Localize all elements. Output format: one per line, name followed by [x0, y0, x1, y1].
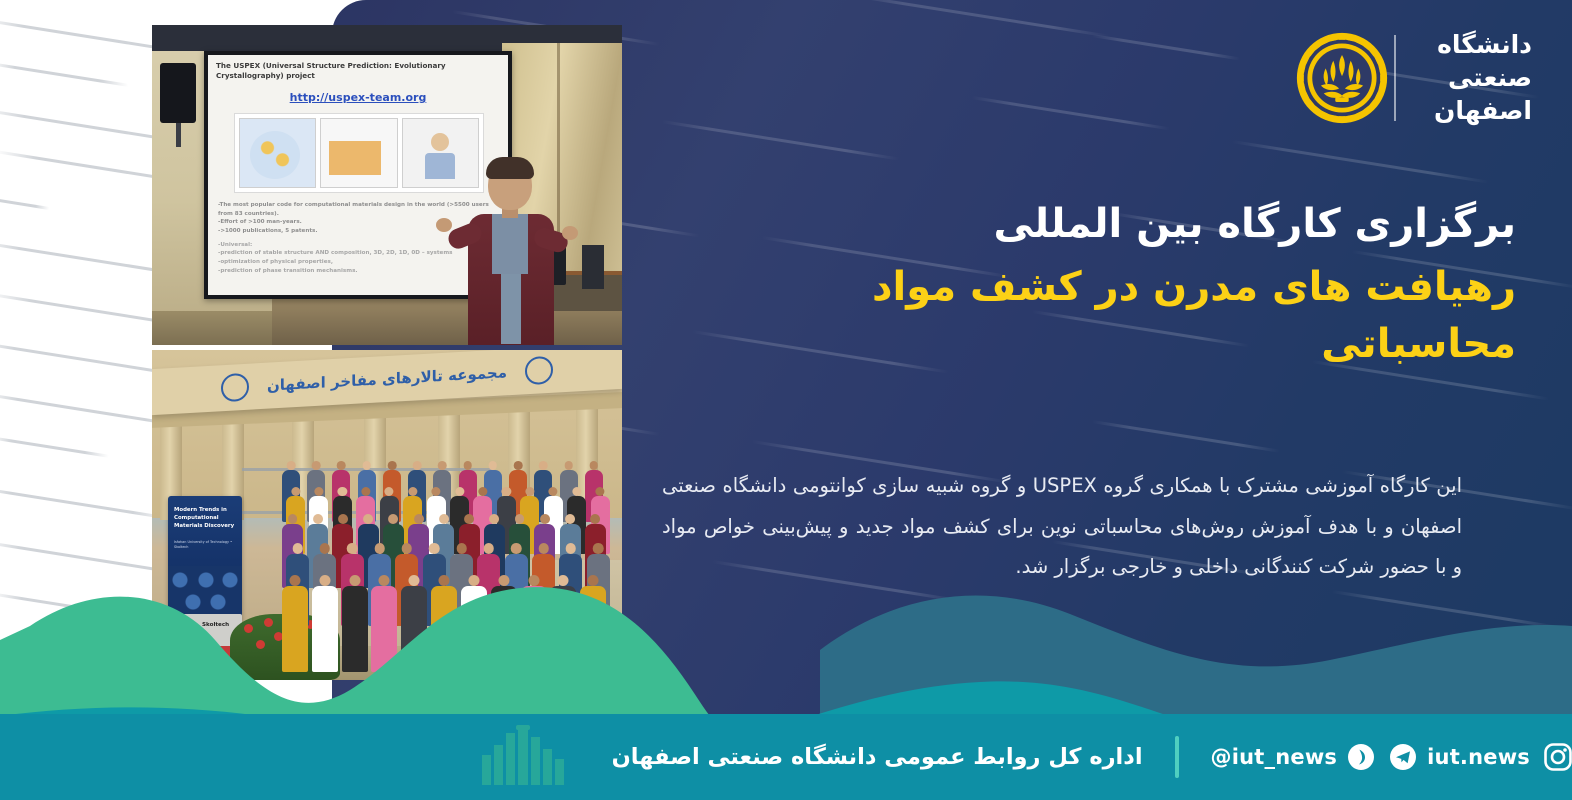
slide-thumbnails [234, 113, 484, 193]
participant-head [558, 575, 569, 586]
participant-head [438, 461, 447, 470]
participant-head [511, 543, 522, 554]
participant [312, 586, 338, 672]
wall-speaker [160, 63, 196, 123]
participant-head [363, 514, 373, 524]
footer-divider [1175, 736, 1179, 778]
footer-organization: اداره کل روابط عمومی دانشگاه صنعتی اصفها… [612, 744, 1143, 770]
participant-head [402, 543, 413, 554]
participant-head [409, 575, 420, 586]
participant-head [540, 514, 550, 524]
participant-head [374, 543, 385, 554]
lecture-hall-scene: The USPEX (Universal Structure Predictio… [152, 25, 622, 345]
participant-head [337, 461, 346, 470]
participants-crowd [272, 462, 620, 672]
participant-head [489, 514, 499, 524]
participant-head [525, 487, 534, 496]
participant-head [463, 461, 472, 470]
presenter-hand-right [562, 226, 578, 240]
participant-head [292, 543, 303, 554]
participant [342, 586, 368, 672]
participant-head [590, 514, 600, 524]
plaque-logo-iut: ⚙ [174, 622, 178, 628]
participant-head [439, 514, 449, 524]
university-logo: دانشگاه صنعتی اصفهان [1294, 28, 1532, 127]
participant-head [379, 575, 390, 586]
participant-head [313, 514, 323, 524]
telegram-icon[interactable] [1389, 743, 1417, 771]
participant-head [413, 461, 422, 470]
slide-url: http://uspex-team.org [208, 91, 508, 104]
participant-head [347, 543, 358, 554]
participant [550, 586, 576, 672]
computer-tower [582, 245, 604, 289]
participant-head [290, 575, 301, 586]
group-photo-scene: مجموعه تالارهای مفاخر اصفهان Modern Tren… [152, 350, 622, 680]
plaque-logo-skoltech: Skoltech [202, 622, 229, 628]
speaker-stand [176, 123, 181, 147]
participant-head [320, 543, 331, 554]
flower [244, 624, 253, 633]
participant-head [312, 461, 321, 470]
participant [461, 586, 487, 672]
event-banner-subtitle: Isfahan University of Technology • Skolt… [174, 540, 236, 550]
participant-head [593, 543, 604, 554]
participant [371, 586, 397, 672]
participant-head [549, 487, 558, 496]
participant-head [429, 543, 440, 554]
participant-head [528, 575, 539, 586]
presenter-hand-left [436, 218, 452, 232]
presenter-hair [486, 157, 534, 179]
participant-head [388, 461, 397, 470]
sign-seal-right-icon [221, 373, 249, 403]
logo-divider [1394, 35, 1396, 121]
building-silhouette-icon [476, 725, 572, 789]
participant-head [514, 461, 523, 470]
participant-head [414, 514, 424, 524]
university-name-line-3: اصفهان [1434, 94, 1532, 127]
participant-head [319, 575, 330, 586]
participant-head [484, 543, 495, 554]
participant-head [566, 543, 577, 554]
presenter-figure [452, 160, 572, 345]
footer-bar: iut.news @iut_news اداره کل روابط عمومی … [0, 714, 1572, 800]
participant-head [287, 461, 296, 470]
participant-head [539, 461, 548, 470]
participant-head [589, 461, 598, 470]
participant-head [588, 575, 599, 586]
participant-head [456, 543, 467, 554]
participant-head [464, 514, 474, 524]
participant-head [349, 575, 360, 586]
participant-head [564, 461, 573, 470]
plaque-badge-1 [172, 646, 200, 658]
university-name: دانشگاه صنعتی اصفهان [1416, 28, 1532, 127]
headline-line-2: رهیافت های مدرن در کشف مواد محاسباتی [756, 259, 1516, 373]
participant-head [439, 575, 450, 586]
participant-head [595, 487, 604, 496]
headline-line-1: برگزاری کارگاه بین المللی [756, 196, 1516, 253]
bale-icon[interactable] [1347, 743, 1375, 771]
participant [282, 586, 308, 672]
participant [431, 586, 457, 672]
university-name-line-1: دانشگاه [1434, 28, 1532, 61]
instagram-handle[interactable]: iut.news [1427, 745, 1530, 769]
participant-head [515, 514, 525, 524]
group-photo: مجموعه تالارهای مفاخر اصفهان Modern Tren… [152, 350, 622, 680]
participant-head [565, 514, 575, 524]
university-name-line-2: صنعتی [1434, 61, 1532, 94]
telegram-handle[interactable]: @iut_news [1211, 745, 1338, 769]
event-banner-title: Modern Trends in Computational Materials… [174, 506, 236, 530]
participant-head [468, 575, 479, 586]
sign-seal-left-icon [525, 356, 553, 386]
lecture-photo: The USPEX (Universal Structure Predictio… [152, 25, 622, 345]
participant-head [362, 461, 371, 470]
instagram-icon[interactable] [1544, 743, 1572, 771]
participant [401, 586, 427, 672]
participant-head [338, 514, 348, 524]
poster-canvas: دانشگاه صنعتی اصفهان [0, 0, 1572, 800]
participant-head [288, 514, 298, 524]
participant-head [572, 487, 581, 496]
slide-thumb-crystal [239, 118, 316, 188]
iut-gear-emblem-icon [1294, 30, 1390, 126]
participant [491, 586, 517, 672]
participant-head [388, 514, 398, 524]
slide-thumb-structure [320, 118, 397, 188]
participant-head [498, 575, 509, 586]
participant [521, 586, 547, 672]
event-banner: Modern Trends in Computational Materials… [168, 496, 242, 622]
flower [256, 640, 265, 649]
presenter-shirt [492, 214, 528, 274]
participant [580, 586, 606, 672]
participant-head [489, 461, 498, 470]
participant-head [538, 543, 549, 554]
building-sign-text: مجموعه تالارهای مفاخر اصفهان [267, 363, 507, 394]
headline: برگزاری کارگاه بین المللی رهیافت های مدر… [756, 196, 1516, 372]
body-paragraph: این کارگاه آموزشی مشترک با همکاری گروه U… [662, 466, 1462, 588]
slide-title: The USPEX (Universal Structure Predictio… [216, 61, 502, 80]
